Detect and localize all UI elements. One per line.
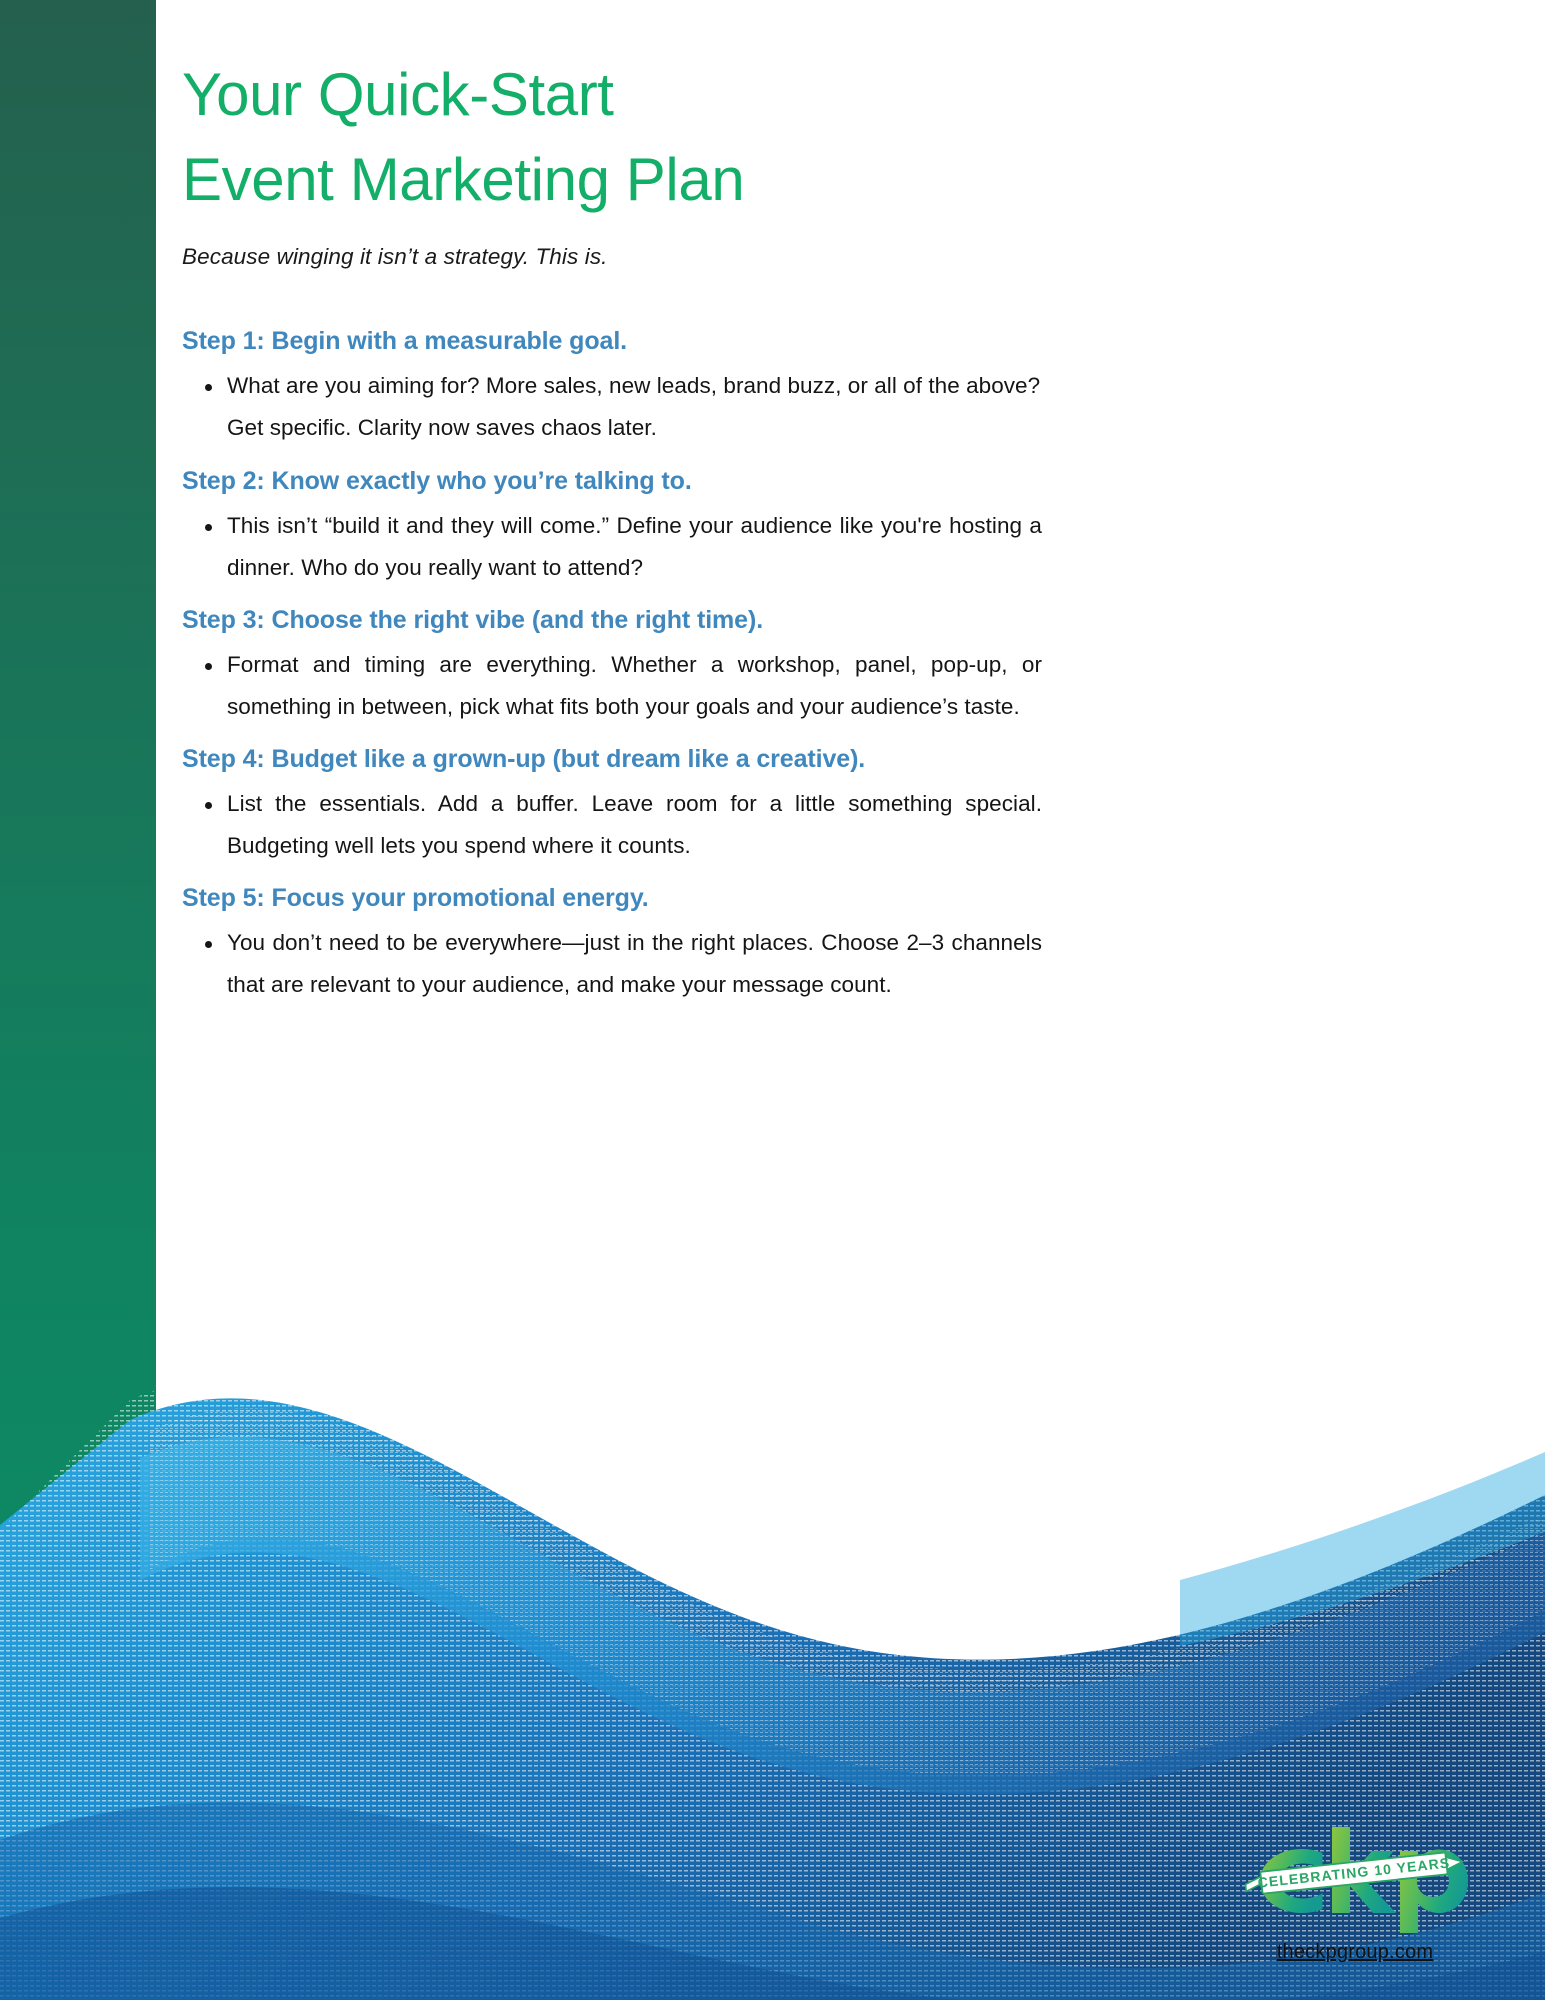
document-content: Your Quick-Start Event Marketing Plan Be…: [182, 0, 1042, 1006]
steps-list: Step 1: Begin with a measurable goal. Wh…: [182, 324, 1042, 1006]
step-heading-5: Step 5: Focus your promotional energy.: [182, 881, 1042, 916]
step-bullets-4: List the essentials. Add a buffer. Leave…: [182, 783, 1042, 867]
step-bullet-3: Format and timing are everything. Whethe…: [182, 644, 1042, 728]
step-bullets-3: Format and timing are everything. Whethe…: [182, 644, 1042, 728]
step-bullet-1: What are you aiming for? More sales, new…: [182, 365, 1042, 449]
step-bullets-2: This isn’t “build it and they will come.…: [182, 505, 1042, 589]
website-url-link[interactable]: theckpgroup.com: [1277, 1941, 1433, 1964]
page-canvas: Your Quick-Start Event Marketing Plan Be…: [0, 0, 1545, 2000]
step-block-4: Step 4: Budget like a grown-up (but drea…: [182, 742, 1042, 867]
step-block-3: Step 3: Choose the right vibe (and the r…: [182, 603, 1042, 728]
page-subtitle: Because winging it isn’t a strategy. Thi…: [182, 244, 1042, 270]
wave-right-ripple: [1180, 1452, 1545, 1646]
footer-branding: CELEBRATING 10 YEARS theckpgroup.com: [1225, 1823, 1485, 1964]
ckp-logo-icon: CELEBRATING 10 YEARS: [1240, 1823, 1470, 1935]
page-title: Your Quick-Start Event Marketing Plan: [182, 0, 1042, 222]
wave-crest-highlight: [140, 1437, 1545, 1794]
step-bullet-2: This isn’t “build it and they will come.…: [182, 505, 1042, 589]
step-heading-2: Step 2: Know exactly who you’re talking …: [182, 464, 1042, 499]
left-green-gradient-bar: [0, 0, 156, 2000]
step-bullets-1: What are you aiming for? More sales, new…: [182, 365, 1042, 449]
step-block-2: Step 2: Know exactly who you’re talking …: [182, 464, 1042, 589]
step-bullet-4: List the essentials. Add a buffer. Leave…: [182, 783, 1042, 867]
step-heading-1: Step 1: Begin with a measurable goal.: [182, 324, 1042, 359]
step-bullet-5: You don’t need to be everywhere—just in …: [182, 922, 1042, 1006]
step-bullets-5: You don’t need to be everywhere—just in …: [182, 922, 1042, 1006]
step-block-1: Step 1: Begin with a measurable goal. Wh…: [182, 324, 1042, 449]
step-heading-4: Step 4: Budget like a grown-up (but drea…: [182, 742, 1042, 777]
step-heading-3: Step 3: Choose the right vibe (and the r…: [182, 603, 1042, 638]
step-block-5: Step 5: Focus your promotional energy. Y…: [182, 881, 1042, 1006]
